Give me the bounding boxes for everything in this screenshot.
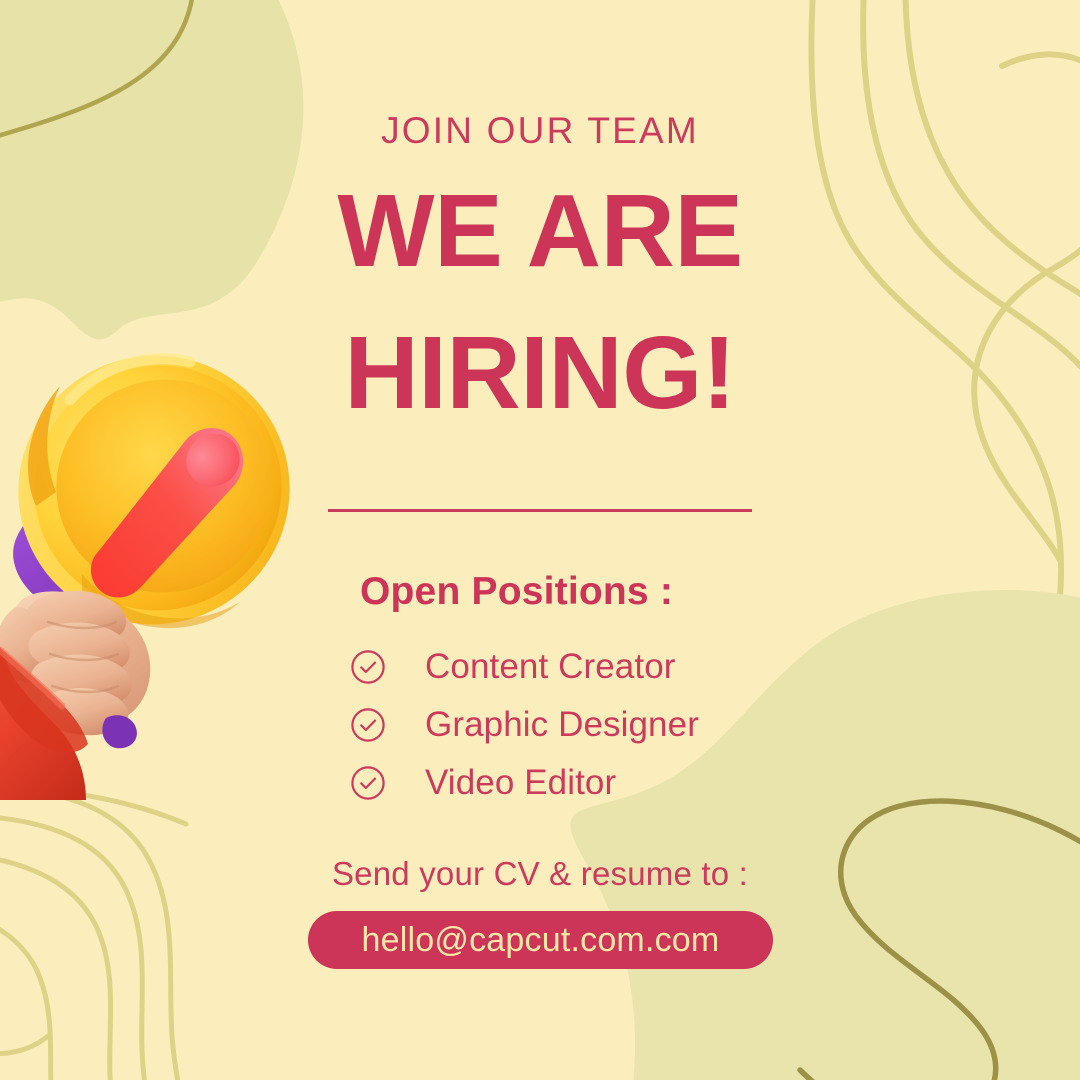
hiring-poster: JOIN OUR TEAM WE ARE HIRING! Open Positi… xyxy=(0,0,1080,1080)
divider-line xyxy=(328,509,752,512)
cta-text: Send your CV & resume to : xyxy=(300,855,780,893)
position-label: Graphic Designer xyxy=(425,705,699,745)
open-positions-list: Content Creator Graphic Designer Video E… xyxy=(350,638,870,812)
blob-top-left xyxy=(0,0,303,339)
position-label: Content Creator xyxy=(425,647,676,687)
contour-lines-bottom-left xyxy=(0,787,200,1080)
contour-line-top-left xyxy=(0,0,194,144)
circle-check-icon xyxy=(350,649,386,685)
email-pill[interactable]: hello@capcut.com.com xyxy=(308,911,773,969)
contour-lines-top-right xyxy=(811,0,1080,596)
circle-check-icon xyxy=(350,765,386,801)
eyebrow-text: JOIN OUR TEAM xyxy=(300,112,780,151)
contour-loop-bottom-right xyxy=(800,801,1080,1080)
circle-check-icon xyxy=(350,707,386,743)
list-item: Content Creator xyxy=(350,638,870,696)
headline-line-1: WE ARE xyxy=(270,184,810,279)
position-label: Video Editor xyxy=(425,763,616,803)
email-address: hello@capcut.com.com xyxy=(362,921,720,960)
open-positions-title: Open Positions : xyxy=(360,570,673,614)
list-item: Video Editor xyxy=(350,754,870,812)
headline-line-2: HIRING! xyxy=(270,326,810,421)
list-item: Graphic Designer xyxy=(350,696,870,754)
